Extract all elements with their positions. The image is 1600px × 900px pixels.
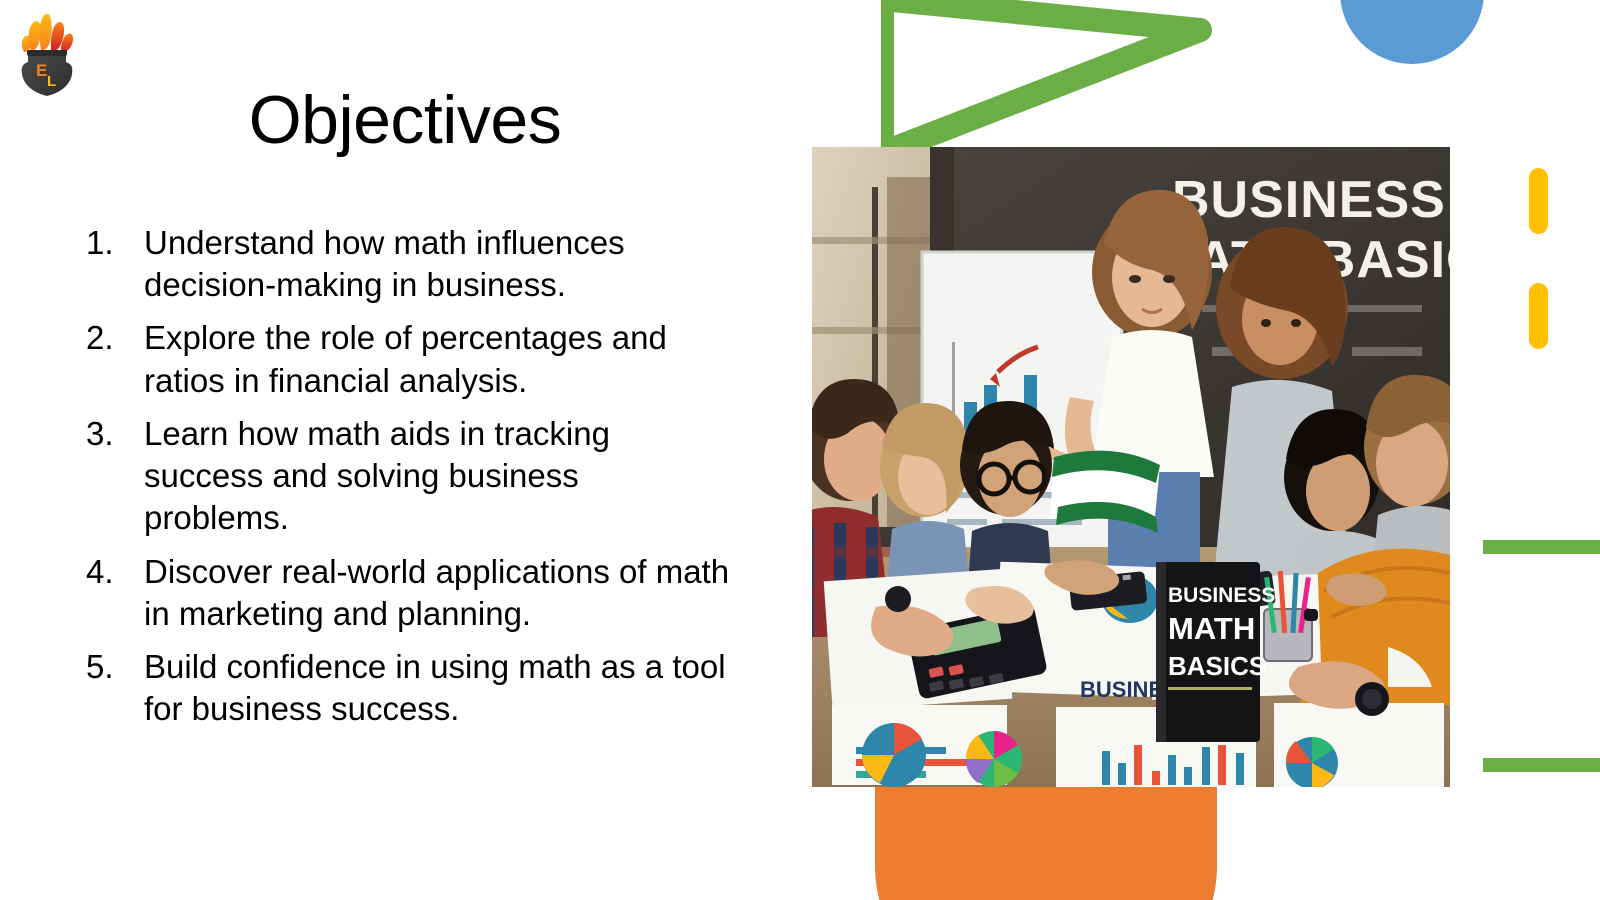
list-item: 5. Build confidence in using math as a t… (82, 646, 732, 730)
list-item-number: 1. (82, 222, 144, 264)
pie-chart-bottom-mid (966, 731, 1022, 787)
classroom-photo: BUSINESS MATH BASICS (812, 147, 1450, 787)
green-chevron-icon (880, 0, 1220, 154)
list-item: 1. Understand how math influences decisi… (82, 222, 732, 306)
list-item: 3. Learn how math aids in tracking succe… (82, 413, 732, 540)
list-item-text: Discover real-world applications of math… (144, 551, 732, 635)
book-line1: BUSINESS (1168, 584, 1275, 607)
business-math-basics-book: BUSINESS MATH BASICS (1156, 562, 1275, 742)
page-title: Objectives (60, 84, 750, 157)
list-item-number: 5. (82, 646, 144, 688)
list-item-number: 4. (82, 551, 144, 593)
list-item-text: Build confidence in using math as a tool… (144, 646, 732, 730)
list-item: 4. Discover real-world applications of m… (82, 551, 732, 635)
list-item-text: Explore the role of percentages and rati… (144, 317, 732, 401)
pie-chart-bottom-right (1286, 737, 1338, 787)
blue-circle-shape (1340, 0, 1484, 64)
list-item-text: Learn how math aids in tracking success … (144, 413, 732, 540)
list-item-number: 2. (82, 317, 144, 359)
book-line3: BASICS (1168, 651, 1266, 681)
objectives-list: 1. Understand how math influences decisi… (82, 222, 732, 742)
list-item-text: Understand how math influences decision-… (144, 222, 732, 306)
wall-heading-line1: BUSINESS (1172, 171, 1446, 229)
list-item: 2. Explore the role of percentages and r… (82, 317, 732, 401)
green-horizontal-bar-1 (1483, 540, 1600, 554)
book-line2: MATH (1168, 611, 1255, 646)
list-item-number: 3. (82, 413, 144, 455)
logo-letter-e: E (36, 61, 47, 80)
pie-chart-bottom-left (862, 723, 926, 787)
yellow-dash-bar-2 (1529, 283, 1548, 349)
yellow-dash-bar-1 (1529, 168, 1548, 234)
orange-semicircle-shape (875, 786, 1217, 900)
logo-letter-l: L (47, 73, 56, 90)
slide-canvas: E L Objectives 1. Understand how math in… (0, 0, 1600, 900)
green-horizontal-bar-2 (1483, 758, 1600, 772)
